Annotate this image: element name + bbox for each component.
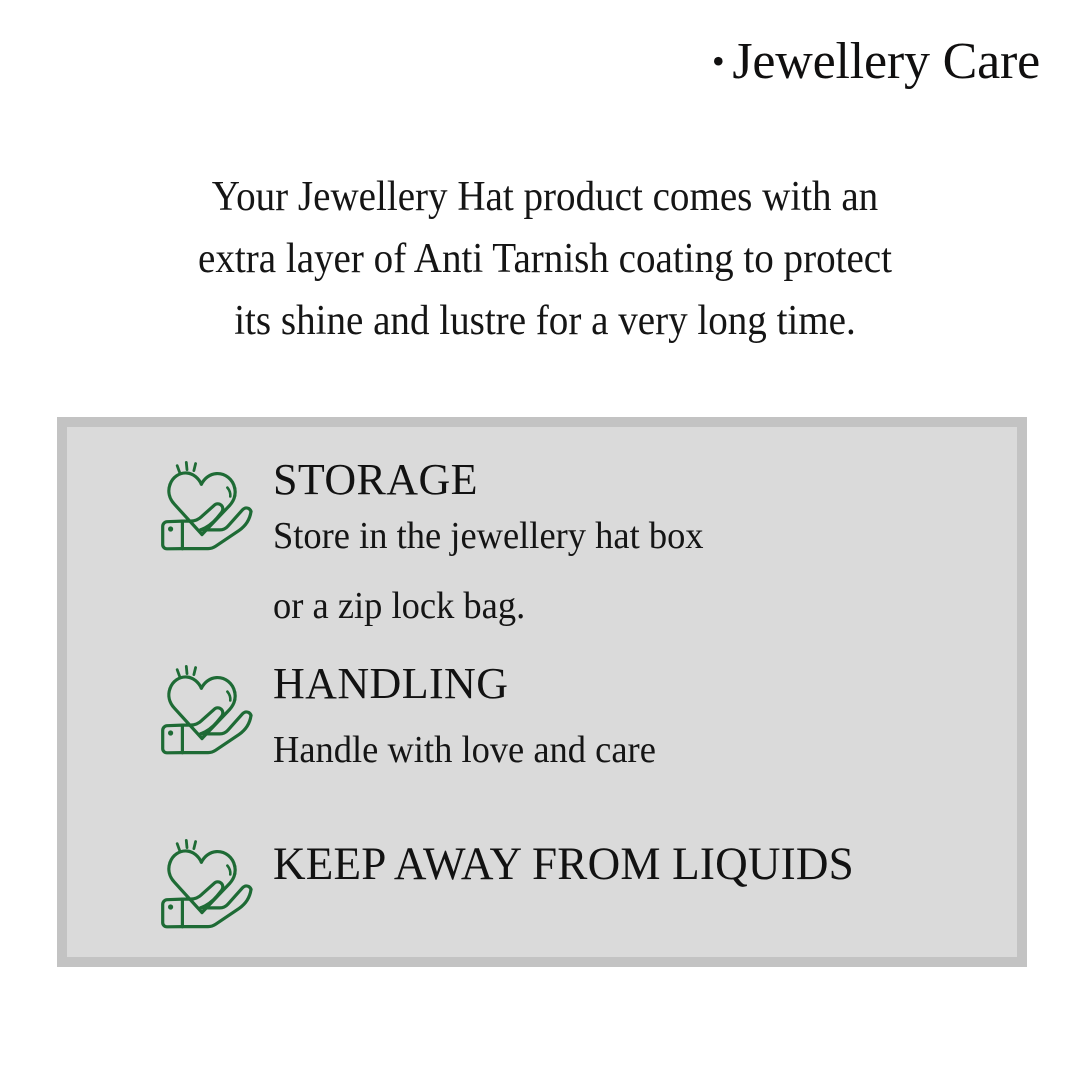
care-text-storage: STORAGE Store in the jewellery hat box o… — [273, 451, 1017, 635]
care-row-keep-away-from-liquids: KEEP AWAY FROM LIQUIDS — [67, 829, 1017, 931]
care-instructions-panel: STORAGE Store in the jewellery hat box o… — [57, 417, 1027, 967]
care-rows: STORAGE Store in the jewellery hat box o… — [67, 427, 1017, 957]
care-heading: STORAGE — [273, 455, 1017, 505]
intro-line-1: Your Jewellery Hat product comes with an — [122, 166, 968, 228]
bullet-icon: • — [712, 43, 724, 79]
page-title: •Jewellery Care — [712, 34, 1040, 90]
care-heading: KEEP AWAY FROM LIQUIDS — [273, 833, 987, 895]
page-title-text: Jewellery Care — [732, 33, 1040, 90]
care-line: Store in the jewellery hat box — [273, 507, 987, 565]
care-text-handling: HANDLING Handle with love and care — [273, 655, 1017, 779]
intro-line-2: extra layer of Anti Tarnish coating to p… — [122, 228, 968, 290]
heart-in-hand-icon — [155, 831, 259, 931]
intro-line-3: its shine and lustre for a very long tim… — [122, 290, 968, 352]
care-heading: HANDLING — [273, 659, 1017, 709]
heart-in-hand-icon — [155, 453, 259, 553]
care-row-handling: HANDLING Handle with love and care — [67, 655, 1017, 779]
heart-in-hand-icon — [155, 657, 259, 757]
intro-paragraph: Your Jewellery Hat product comes with an… — [122, 166, 968, 352]
care-line: Handle with love and care — [273, 721, 987, 779]
care-text-keep-away-from-liquids: KEEP AWAY FROM LIQUIDS — [273, 829, 1017, 895]
care-line: or a zip lock bag. — [273, 577, 987, 635]
care-row-storage: STORAGE Store in the jewellery hat box o… — [67, 451, 1017, 635]
